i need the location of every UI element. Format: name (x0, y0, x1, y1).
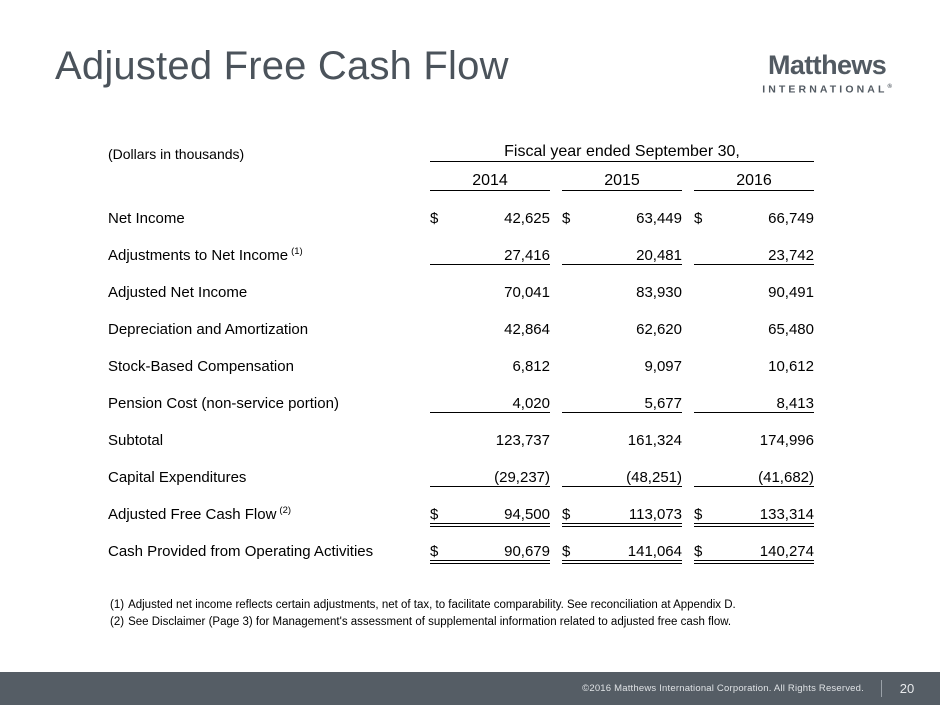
value-cell: (41,682) (716, 449, 814, 486)
value-cell: 23,742 (716, 227, 814, 264)
currency-symbol-cell (694, 375, 716, 412)
row-label: Stock-Based Compensation (108, 338, 430, 375)
currency-symbol-cell (694, 264, 716, 301)
row-label-text: Pension Cost (non-service portion) (108, 395, 339, 412)
value-cell: 9,097 (584, 338, 682, 375)
column-header-year-2014: 2014 (430, 172, 550, 191)
currency-symbol-cell: $ (694, 190, 716, 227)
row-label-text: Stock-Based Compensation (108, 358, 294, 375)
value-cell: 10,612 (716, 338, 814, 375)
footer-divider (881, 680, 882, 697)
header-spacer (108, 162, 814, 172)
currency-symbol-cell (694, 227, 716, 264)
row-label-text: Depreciation and Amortization (108, 321, 308, 338)
currency-symbol-cell (562, 412, 584, 449)
value-cell: 141,064 (584, 523, 682, 560)
logo-wordmark: Matthews (759, 52, 895, 79)
value-cell: 42,864 (452, 301, 550, 338)
currency-symbol-cell (430, 264, 452, 301)
row-label-text: Subtotal (108, 432, 163, 449)
currency-symbol-cell: $ (562, 523, 584, 560)
value-cell: 6,812 (452, 338, 550, 375)
column-gap (550, 486, 562, 523)
row-label-text: Capital Expenditures (108, 469, 246, 486)
footnote-mark: (1) (110, 599, 124, 611)
row-label: Capital Expenditures (108, 449, 430, 486)
column-gap (682, 227, 694, 264)
row-label-text: Adjusted Free Cash Flow (108, 506, 276, 523)
currency-symbol-cell (562, 375, 584, 412)
row-label: Adjusted Free Cash Flow(2) (108, 486, 430, 523)
currency-symbol: $ (694, 506, 702, 523)
gap-cell-2 (682, 172, 694, 191)
value-cell: 4,020 (452, 375, 550, 412)
currency-symbol-cell (562, 227, 584, 264)
column-gap (550, 375, 562, 412)
footnote-marker: (1) (291, 246, 303, 257)
table-row: Adjusted Net Income70,04183,93090,491 (108, 264, 814, 301)
row-label: Subtotal (108, 412, 430, 449)
value-cell: 27,416 (452, 227, 550, 264)
row-label-text: Adjusted Net Income (108, 284, 247, 301)
value-cell: 20,481 (584, 227, 682, 264)
currency-symbol-cell (430, 227, 452, 264)
currency-symbol-cell (430, 375, 452, 412)
currency-symbol: $ (430, 506, 438, 523)
value-cell: (48,251) (584, 449, 682, 486)
currency-symbol-cell (694, 412, 716, 449)
value-cell: 5,677 (584, 375, 682, 412)
value-cell: 123,737 (452, 412, 550, 449)
currency-symbol-cell: $ (562, 190, 584, 227)
slide-footer: ©2016 Matthews International Corporation… (0, 672, 940, 705)
value-cell: 174,996 (716, 412, 814, 449)
currency-symbol-cell: $ (694, 523, 716, 560)
value-cell: 70,041 (452, 264, 550, 301)
value-cell: 83,930 (584, 264, 682, 301)
table-row: Capital Expenditures(29,237)(48,251)(41,… (108, 449, 814, 486)
currency-symbol-cell (694, 449, 716, 486)
value-cell: 8,413 (716, 375, 814, 412)
currency-symbol: $ (562, 210, 570, 227)
value-cell: 62,620 (584, 301, 682, 338)
header-spacer-cell (108, 162, 814, 172)
currency-symbol-cell: $ (430, 486, 452, 523)
table-row: Stock-Based Compensation6,8129,09710,612 (108, 338, 814, 375)
row-label-text: Cash Provided from Operating Activities (108, 543, 373, 560)
column-gap (682, 338, 694, 375)
value-cell: 161,324 (584, 412, 682, 449)
value-cell: 65,480 (716, 301, 814, 338)
currency-symbol-cell (694, 338, 716, 375)
table-row: Depreciation and Amortization42,86462,62… (108, 301, 814, 338)
header-years-label-cell (108, 172, 430, 191)
currency-symbol-cell (430, 338, 452, 375)
currency-symbol-cell: $ (694, 486, 716, 523)
registered-mark-icon: ® (887, 84, 895, 90)
footnote-line: (2)See Disclaimer (Page 3) for Managemen… (110, 614, 736, 631)
column-gap (682, 449, 694, 486)
value-cell: (29,237) (452, 449, 550, 486)
table-row: Cash Provided from Operating Activities$… (108, 523, 814, 560)
footnote-line: (1)Adjusted net income reflects certain … (110, 597, 736, 614)
currency-symbol-cell (430, 412, 452, 449)
units-note: (Dollars in thousands) (108, 143, 430, 162)
period-header: Fiscal year ended September 30, (430, 143, 814, 162)
value-cell: 140,274 (716, 523, 814, 560)
header-row-period: (Dollars in thousands) Fiscal year ended… (108, 143, 814, 162)
value-cell: 66,749 (716, 190, 814, 227)
currency-symbol: $ (430, 543, 438, 560)
column-gap (682, 375, 694, 412)
footnote-text: See Disclaimer (Page 3) for Management's… (128, 616, 731, 628)
value-cell: 133,314 (716, 486, 814, 523)
currency-symbol-cell (562, 264, 584, 301)
currency-symbol-cell (562, 338, 584, 375)
table-row: Net Income$42,625$63,449$66,749 (108, 190, 814, 227)
currency-symbol-cell: $ (430, 523, 452, 560)
column-gap (550, 301, 562, 338)
table-header: (Dollars in thousands) Fiscal year ended… (108, 143, 814, 190)
row-label: Depreciation and Amortization (108, 301, 430, 338)
column-gap (550, 523, 562, 560)
footnote-mark: (2) (110, 616, 124, 628)
logo-subtitle-text: INTERNATIONAL (762, 84, 887, 96)
column-gap (550, 264, 562, 301)
table-row: Pension Cost (non-service portion)4,0205… (108, 375, 814, 412)
column-header-year-2015: 2015 (562, 172, 682, 191)
currency-symbol-cell (562, 449, 584, 486)
currency-symbol: $ (694, 543, 702, 560)
table-body: Net Income$42,625$63,449$66,749Adjustmen… (108, 190, 814, 560)
currency-symbol: $ (562, 506, 570, 523)
row-label: Net Income (108, 190, 430, 227)
currency-symbol-cell (430, 301, 452, 338)
matthews-international-logo: Matthews INTERNATIONAL® (759, 52, 895, 95)
row-label: Adjusted Net Income (108, 264, 430, 301)
footnotes-block: (1)Adjusted net income reflects certain … (110, 597, 736, 630)
currency-symbol: $ (562, 543, 570, 560)
table-row: Subtotal123,737161,324174,996 (108, 412, 814, 449)
table-row: Adjusted Free Cash Flow(2)$94,500$113,07… (108, 486, 814, 523)
column-gap (682, 486, 694, 523)
column-header-year-2016: 2016 (694, 172, 814, 191)
page-title: Adjusted Free Cash Flow (55, 44, 509, 89)
row-label: Cash Provided from Operating Activities (108, 523, 430, 560)
currency-symbol-cell: $ (562, 486, 584, 523)
row-label-text: Adjustments to Net Income (108, 247, 288, 264)
column-gap (550, 449, 562, 486)
column-gap (550, 412, 562, 449)
logo-subtitle: INTERNATIONAL® (759, 84, 895, 95)
value-cell: 90,491 (716, 264, 814, 301)
row-label-text: Net Income (108, 210, 185, 227)
currency-symbol-cell (694, 301, 716, 338)
value-cell: 42,625 (452, 190, 550, 227)
currency-symbol-cell (562, 301, 584, 338)
value-cell: 63,449 (584, 190, 682, 227)
column-gap (682, 301, 694, 338)
value-cell: 113,073 (584, 486, 682, 523)
column-gap (550, 190, 562, 227)
currency-symbol: $ (430, 210, 438, 227)
footnote-marker: (2) (279, 505, 291, 516)
currency-symbol-cell (430, 449, 452, 486)
currency-symbol: $ (694, 210, 702, 227)
value-cell: 90,679 (452, 523, 550, 560)
column-gap (682, 264, 694, 301)
table-row: Adjustments to Net Income(1)27,41620,481… (108, 227, 814, 264)
copyright-text: ©2016 Matthews International Corporation… (582, 683, 864, 694)
column-gap (550, 338, 562, 375)
header-row-years: 2014 2015 2016 (108, 172, 814, 191)
footnote-text: Adjusted net income reflects certain adj… (128, 599, 736, 611)
value-cell: 94,500 (452, 486, 550, 523)
page-number: 20 (899, 681, 915, 696)
row-label: Adjustments to Net Income(1) (108, 227, 430, 264)
adjusted-free-cash-flow-table: (Dollars in thousands) Fiscal year ended… (108, 143, 814, 561)
column-gap (682, 523, 694, 560)
column-gap (682, 412, 694, 449)
gap-cell-1 (550, 172, 562, 191)
column-gap (550, 227, 562, 264)
row-label: Pension Cost (non-service portion) (108, 375, 430, 412)
currency-symbol-cell: $ (430, 190, 452, 227)
column-gap (682, 190, 694, 227)
